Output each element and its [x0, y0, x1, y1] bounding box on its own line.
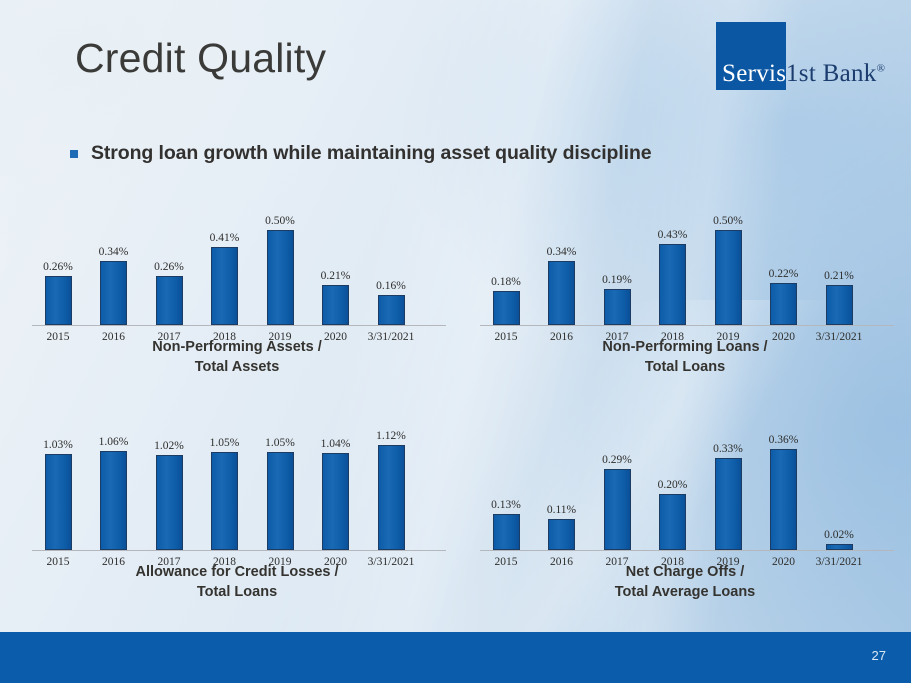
chart-plot-area: 1.03%20151.06%20161.02%20171.05%20181.05… [22, 410, 452, 552]
bar-value-label: 0.21% [824, 270, 854, 282]
bar-value-label: 0.41% [210, 232, 240, 244]
chart-title-line-1: Non-Performing Assets / [22, 338, 452, 358]
chart-title: Non-Performing Assets /Total Assets [22, 338, 452, 377]
bar-value-label: 0.20% [658, 479, 688, 491]
chart-title-line-2: Total Loans [22, 583, 452, 603]
bar-value-label: 0.22% [769, 268, 799, 280]
x-axis-line [32, 325, 446, 326]
bar-value-label: 0.43% [658, 229, 688, 241]
bar-column: 0.13% [493, 514, 520, 550]
bar [322, 285, 349, 325]
bar-value-label: 1.05% [210, 437, 240, 449]
bar [267, 452, 294, 550]
bar-column: 0.36% [770, 449, 797, 550]
bar [604, 289, 631, 325]
page-number: 27 [872, 648, 886, 663]
chart-title-line-2: Total Average Loans [470, 583, 900, 603]
chart-title-line-1: Allowance for Credit Losses / [22, 563, 452, 583]
bar-value-label: 0.33% [713, 443, 743, 455]
bar [493, 514, 520, 550]
bar [826, 285, 853, 325]
bar-value-label: 0.26% [154, 261, 184, 273]
bar [715, 458, 742, 550]
chart-plot-area: 0.18%20150.34%20160.19%20170.43%20180.50… [470, 196, 900, 327]
slide: Credit Quality Servis 1st Bank® Strong l… [0, 0, 911, 683]
logo-name-label: 1st Bank [786, 60, 877, 87]
bar [548, 519, 575, 550]
bar [378, 295, 405, 325]
chart-title: Net Charge Offs /Total Average Loans [470, 563, 900, 602]
bar-column: 0.22% [770, 283, 797, 325]
bar [659, 244, 686, 325]
bar-column: 0.41% [211, 247, 238, 325]
bar-value-label: 0.29% [602, 454, 632, 466]
bar [45, 454, 72, 550]
bar-column: 1.05% [211, 452, 238, 550]
chart-plot-area: 0.13%20150.11%20160.29%20170.20%20180.33… [470, 410, 900, 552]
bar [156, 276, 183, 325]
chart-title-line-1: Non-Performing Loans / [470, 338, 900, 358]
bar [493, 291, 520, 325]
bar [100, 451, 127, 550]
bar-value-label: 1.02% [154, 440, 184, 452]
bar-column: 1.05% [267, 452, 294, 550]
bar-column: 0.19% [604, 289, 631, 325]
bar-column: 0.50% [715, 230, 742, 325]
logo-name-text: 1st Bank® [786, 61, 885, 86]
chart-plot-area: 0.26%20150.34%20160.26%20170.41%20180.50… [22, 196, 452, 327]
bullet-row: Strong loan growth while maintaining ass… [70, 142, 652, 165]
page-title: Credit Quality [75, 36, 326, 81]
bar [548, 261, 575, 325]
bar-column: 0.02% [826, 544, 853, 550]
bar-column: 0.33% [715, 458, 742, 550]
x-axis-line [480, 325, 894, 326]
bar [45, 276, 72, 325]
bar [770, 449, 797, 550]
bar-column: 0.34% [100, 261, 127, 325]
bar [211, 452, 238, 550]
bar-column: 0.26% [156, 276, 183, 325]
bar [659, 494, 686, 550]
bar-column: 0.50% [267, 230, 294, 325]
bar-column: 1.12% [378, 445, 405, 550]
chart-title-line-1: Net Charge Offs / [470, 563, 900, 583]
bar-value-label: 1.06% [99, 436, 129, 448]
bar-value-label: 0.34% [547, 246, 577, 258]
bar-value-label: 0.16% [376, 280, 406, 292]
bar-value-label: 1.12% [376, 430, 406, 442]
bar-column: 0.43% [659, 244, 686, 325]
bar-value-label: 1.03% [43, 439, 73, 451]
bar-column: 0.11% [548, 519, 575, 550]
bar-column: 1.06% [100, 451, 127, 550]
bar-column: 0.16% [378, 295, 405, 325]
bar [156, 455, 183, 550]
bar [211, 247, 238, 325]
bar [378, 445, 405, 550]
bullet-text: Strong loan growth while maintaining ass… [91, 142, 652, 165]
x-axis-line [32, 550, 446, 551]
bar-column: 0.29% [604, 469, 631, 550]
bar-column: 1.03% [45, 454, 72, 550]
bar-value-label: 0.02% [824, 529, 854, 541]
bar-column: 0.21% [826, 285, 853, 325]
bar-value-label: 1.04% [321, 438, 351, 450]
chart-title: Non-Performing Loans /Total Loans [470, 338, 900, 377]
bar-value-label: 0.18% [491, 276, 521, 288]
bar [826, 544, 853, 550]
bar [604, 469, 631, 550]
bar-column: 0.20% [659, 494, 686, 550]
bar-column: 1.04% [322, 453, 349, 550]
bar-value-label: 0.26% [43, 261, 73, 273]
x-axis-line [480, 550, 894, 551]
square-bullet-icon [70, 150, 78, 158]
bar-column: 1.02% [156, 455, 183, 550]
bar [770, 283, 797, 325]
bar [715, 230, 742, 325]
registered-trademark-icon: ® [877, 63, 886, 75]
bar [267, 230, 294, 325]
company-logo: Servis 1st Bank® [716, 22, 896, 92]
bar-column: 0.21% [322, 285, 349, 325]
bar-value-label: 0.50% [265, 215, 295, 227]
footer-bar [0, 632, 911, 683]
bar-column: 0.18% [493, 291, 520, 325]
bar-value-label: 0.50% [713, 215, 743, 227]
bar-value-label: 1.05% [265, 437, 295, 449]
bar [100, 261, 127, 325]
bar-column: 0.34% [548, 261, 575, 325]
bar-value-label: 0.11% [547, 504, 576, 516]
chart-title: Allowance for Credit Losses /Total Loans [22, 563, 452, 602]
chart-title-line-2: Total Assets [22, 358, 452, 378]
bar-column: 0.26% [45, 276, 72, 325]
bar-value-label: 0.13% [491, 499, 521, 511]
bar-value-label: 0.21% [321, 270, 351, 282]
logo-mark-text: Servis [722, 61, 786, 86]
bar [322, 453, 349, 550]
bar-value-label: 0.36% [769, 434, 799, 446]
bar-value-label: 0.19% [602, 274, 632, 286]
chart-title-line-2: Total Loans [470, 358, 900, 378]
bar-value-label: 0.34% [99, 246, 129, 258]
